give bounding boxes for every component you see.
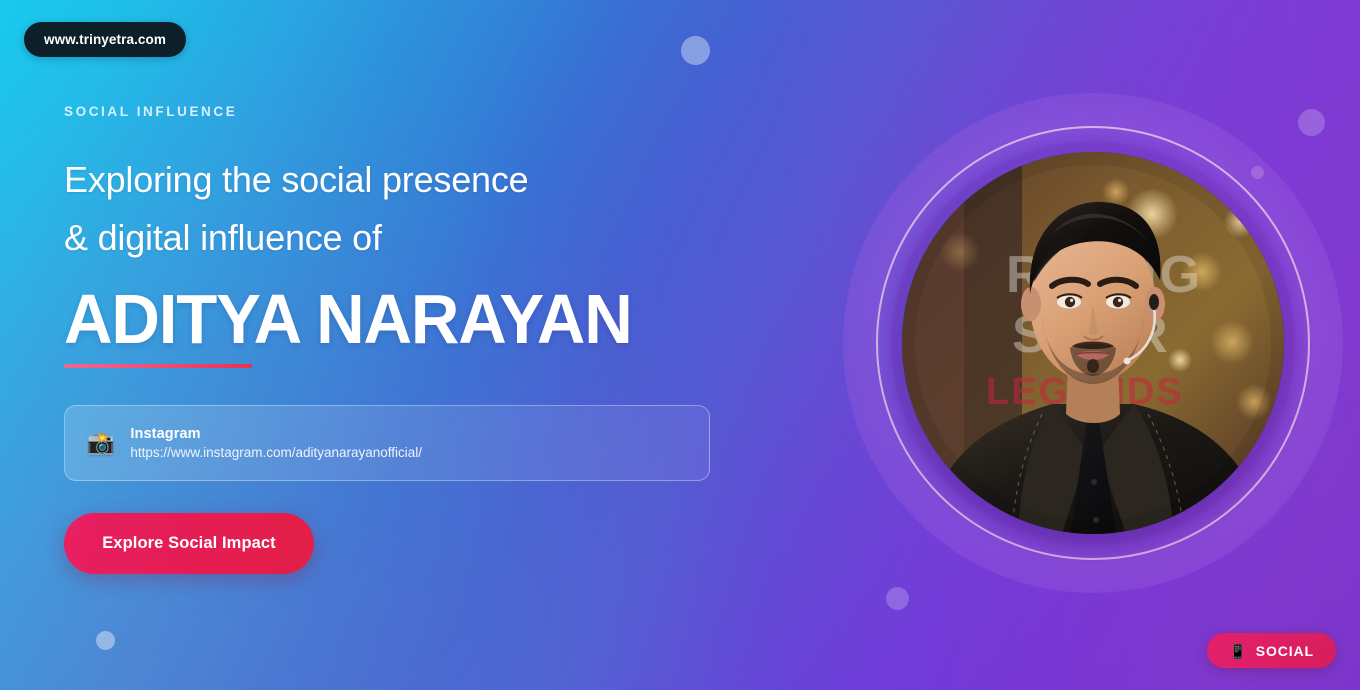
camera-with-flash-icon: 📸 (87, 432, 114, 454)
portrait-module: RISING STAR LEGENDS (843, 93, 1343, 593)
decor-dot-4 (96, 631, 115, 650)
site-url-badge[interactable]: www.trinyetra.com (24, 22, 186, 57)
mobile-phone-icon: 📱 (1229, 644, 1247, 658)
decor-dot-1 (681, 36, 710, 65)
hero-text-block: SOCIAL INFLUENCE Exploring the social pr… (64, 104, 744, 368)
headline-line-1: Exploring the social presence (64, 159, 528, 200)
headline-line-2: & digital influence of (64, 209, 744, 267)
instagram-card-texts: Instagram https://www.instagram.com/adit… (130, 426, 422, 460)
eyebrow-label: SOCIAL INFLUENCE (64, 104, 744, 119)
instagram-link-card[interactable]: 📸 Instagram https://www.instagram.com/ad… (64, 405, 710, 481)
headline: Exploring the social presence & digital … (64, 151, 744, 268)
person-name: ADITYA NARAYAN (64, 284, 632, 355)
hero-banner: www.trinyetra.com SOCIAL INFLUENCE Explo… (0, 0, 1360, 690)
social-category-tag[interactable]: 📱 SOCIAL (1207, 633, 1336, 668)
name-underline-accent (64, 364, 252, 368)
instagram-profile-url: https://www.instagram.com/adityanarayano… (130, 445, 422, 460)
social-tag-label: SOCIAL (1256, 643, 1314, 659)
portrait-photo: RISING STAR LEGENDS (902, 152, 1284, 534)
explore-social-impact-button[interactable]: Explore Social Impact (64, 513, 314, 574)
instagram-platform-label: Instagram (130, 426, 422, 442)
person-name-block: ADITYA NARAYAN (64, 284, 655, 368)
